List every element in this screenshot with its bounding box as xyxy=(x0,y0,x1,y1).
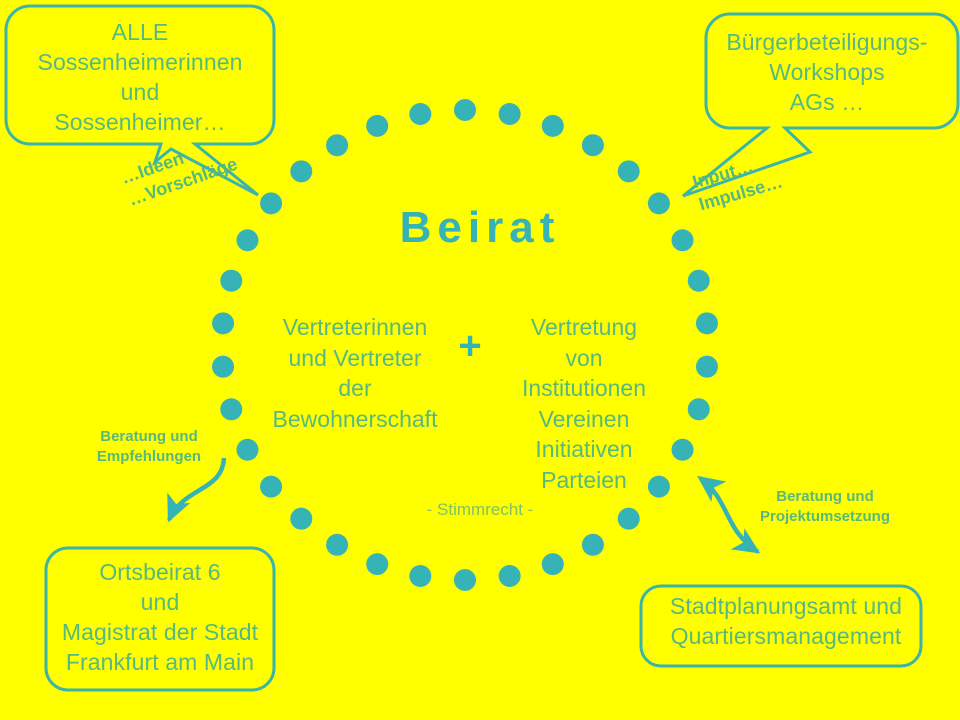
ring-dot xyxy=(696,312,718,334)
ring-dot xyxy=(326,134,348,156)
box-bottom-right-label: Stadtplanungsamt und Quartiersmanagement xyxy=(645,592,927,652)
diagram-canvas: ALLE Sossenheimerinnen und Sossenheimer…… xyxy=(0,0,960,720)
callout-top-left-label: ALLE Sossenheimerinnen und Sossenheimer… xyxy=(20,18,260,138)
ring-dot xyxy=(542,553,564,575)
ring-dot xyxy=(220,270,242,292)
center-column-right: Vertretung von Institutionen Vereinen In… xyxy=(496,312,672,495)
ring-dot xyxy=(688,398,710,420)
plus-icon: + xyxy=(444,326,496,366)
ring-dot xyxy=(366,553,388,575)
ring-dot xyxy=(409,565,431,587)
ring-dot xyxy=(582,534,604,556)
flow-label-ideen: …Ideen …Vorschläge xyxy=(118,131,241,212)
ring-dot xyxy=(326,534,348,556)
flow-label-beratung-projektumsetzung: Beratung und Projektumsetzung xyxy=(740,487,910,528)
flow-label-beratung-empfehlungen: Beratung und Empfehlungen xyxy=(78,427,220,468)
ring-dot xyxy=(220,398,242,420)
ring-dot xyxy=(542,115,564,137)
ring-dot xyxy=(409,103,431,125)
ring-dot xyxy=(366,115,388,137)
ring-dot xyxy=(212,356,234,378)
ring-dot xyxy=(290,160,312,182)
ring-dot xyxy=(582,134,604,156)
callout-top-right-label: Bürgerbeteiligungs- Workshops AGs … xyxy=(712,28,942,118)
ring-dot xyxy=(499,103,521,125)
ring-dot xyxy=(688,270,710,292)
ring-dot xyxy=(212,312,234,334)
ring-dot xyxy=(696,356,718,378)
ring-dot xyxy=(499,565,521,587)
ring-dot xyxy=(672,439,694,461)
ring-dot xyxy=(618,160,640,182)
ring-dot xyxy=(260,476,282,498)
diagram-title: Beirat xyxy=(0,203,960,253)
ring-dot xyxy=(236,439,258,461)
ring-dot xyxy=(454,569,476,591)
center-column-left: Vertreterinnen und Vertreter der Bewohne… xyxy=(268,312,442,434)
ring-dot xyxy=(454,99,476,121)
box-bottom-left-label: Ortsbeirat 6 und Magistrat der Stadt Fra… xyxy=(48,558,272,678)
